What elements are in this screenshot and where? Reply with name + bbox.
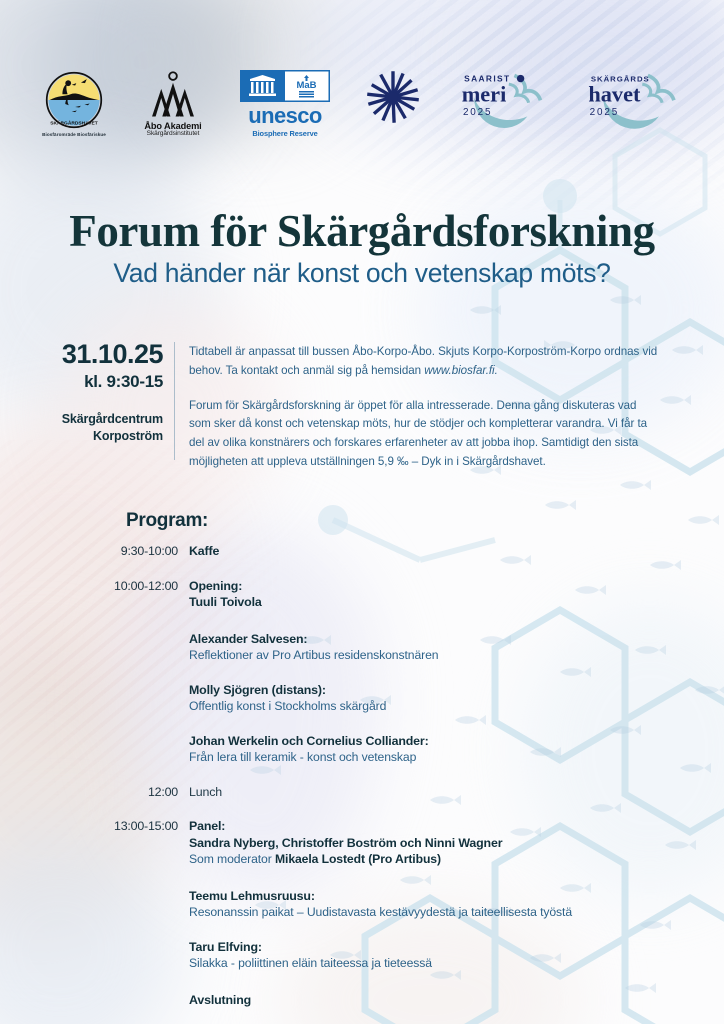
moderator-name: Mikaela Lostedt (Pro Artibus)	[275, 852, 441, 866]
starburst-logo	[365, 69, 421, 125]
program-time	[0, 888, 178, 921]
program-entry: Lunch	[178, 784, 222, 801]
program-time: 9:30-10:00	[0, 543, 178, 560]
program-row: 10:00-12:00Opening:Tuuli Toivola	[0, 578, 724, 611]
svg-text:meri: meri	[462, 81, 507, 106]
program-entry-desc: Resonanssin paikat – Uudistavasta kestäv…	[189, 904, 572, 921]
program-list: 9:30-10:00Kaffe10:00-12:00Opening:Tuuli …	[0, 543, 724, 1009]
program-entry-name: Johan Werkelin och Cornelius Colliander:	[189, 733, 429, 750]
program-entry-name-2: Sandra Nyberg, Christoffer Boström och N…	[189, 835, 502, 852]
program-time: 10:00-12:00	[0, 578, 178, 611]
program-entry-desc: Från lera till keramik - konst och veten…	[189, 749, 429, 766]
program-time	[0, 631, 178, 664]
program-time	[0, 992, 178, 1009]
program-entry: Johan Werkelin och Cornelius Colliander:…	[178, 733, 429, 766]
program-entry-name: Kaffe	[189, 543, 219, 560]
event-date-block: 31.10.25 kl. 9:30-15 Skärgårdcentrum Kor…	[0, 340, 163, 445]
svg-text:havet: havet	[588, 81, 641, 106]
page-subtitle: Vad händer när konst och vetenskap möts?	[0, 258, 724, 289]
program-time	[0, 682, 178, 715]
program-entry-moderator: Som moderator Mikaela Lostedt (Pro Artib…	[189, 851, 502, 868]
event-time: kl. 9:30-15	[0, 372, 163, 392]
logo-row: SKÄRGÅRDSHAVET Biosfäromräde Biosfärisku…	[0, 58, 724, 150]
program-entry-name-2: Tuuli Toivola	[189, 594, 262, 611]
program-entry-name: Avslutning	[189, 992, 251, 1009]
event-venue: Skärgårdcentrum Korpoström	[0, 411, 163, 445]
program-row: 9:30-10:00Kaffe	[0, 543, 724, 560]
program-row: Teemu Lehmusruusu:Resonanssin paikat – U…	[0, 888, 724, 921]
vertical-divider	[174, 342, 175, 460]
program-time	[0, 939, 178, 972]
intro-paragraph-1: Tidtabell är anpassat till bussen Åbo-Ko…	[189, 343, 659, 381]
program-entry-name: Teemu Lehmusruusu:	[189, 888, 572, 905]
program-entry: Avslutning	[178, 992, 251, 1009]
page-title: Forum för Skärgårdsforskning	[0, 205, 724, 257]
program-entry: Taru Elfving:Silakka - poliittinen eläin…	[178, 939, 432, 972]
program-time: 13:00-15:00	[0, 818, 178, 868]
svg-text:2025: 2025	[590, 107, 619, 118]
program-entry-name: Lunch	[189, 784, 222, 801]
program-row: Molly Sjögren (distans):Offentlig konst …	[0, 682, 724, 715]
program-row: 12:00Lunch	[0, 784, 724, 801]
program-entry-name: Panel:	[189, 818, 502, 835]
program-row: Alexander Salvesen:Reflektioner av Pro A…	[0, 631, 724, 664]
program-entry: Teemu Lehmusruusu:Resonanssin paikat – U…	[178, 888, 572, 921]
program-entry-desc: Reflektioner av Pro Artibus residenskons…	[189, 647, 438, 664]
program-entry-name: Alexander Salvesen:	[189, 631, 438, 648]
biosfaromradet-caption: Biosfäromräde Biosfäriskue	[42, 132, 106, 137]
poster-root: SKÄRGÅRDSHAVET Biosfäromräde Biosfärisku…	[0, 0, 724, 1024]
program-time	[0, 733, 178, 766]
venue-line-2: Korpoström	[93, 429, 163, 443]
program-time: 12:00	[0, 784, 178, 801]
venue-line-1: Skärgårdcentrum	[62, 412, 163, 426]
program-row: Johan Werkelin och Cornelius Colliander:…	[0, 733, 724, 766]
program-row: Taru Elfving:Silakka - poliittinen eläin…	[0, 939, 724, 972]
event-date: 31.10.25	[0, 340, 163, 368]
program-entry-name: Molly Sjögren (distans):	[189, 682, 386, 699]
unesco-biosphere-reserve-logo: MaB unesco Biosphere Reserve	[239, 70, 331, 138]
intro-paragraph-2: Forum för Skärgårdsforskning är öppet fö…	[189, 397, 659, 472]
skargardshavet-2025-logo: SKÄRGÅRDS havet 2025	[583, 68, 683, 130]
program-entry-desc: Silakka - poliittinen eläin taiteessa ja…	[189, 955, 432, 972]
unesco-wordmark: unesco	[248, 105, 321, 127]
program-entry-name: Opening:	[189, 578, 262, 595]
biosfar-website-link[interactable]: www.biosfar.fi.	[424, 364, 498, 377]
program-entry: Alexander Salvesen:Reflektioner av Pro A…	[178, 631, 438, 664]
svg-text:MaB: MaB	[296, 80, 316, 91]
program-entry: Panel:Sandra Nyberg, Christoffer Boström…	[178, 818, 502, 868]
program-entry: Molly Sjögren (distans):Offentlig konst …	[178, 682, 386, 715]
saaristomeri-2025-logo: SAARIST meri 2025	[455, 68, 549, 130]
unesco-biosphere-sub: Biosphere Reserve	[252, 129, 317, 138]
program-entry-desc: Offentlig konst i Stockholms skärgård	[189, 698, 386, 715]
program-entry-name: Taru Elfving:	[189, 939, 432, 956]
abo-akademi-logo: Åbo Akademi Skärgårdsinstitutet	[141, 71, 205, 137]
program-row: Avslutning	[0, 992, 724, 1009]
intro-text-block: Tidtabell är anpassat till bussen Åbo-Ko…	[189, 343, 659, 472]
program-row: 13:00-15:00Panel:Sandra Nyberg, Christof…	[0, 818, 724, 868]
abo-akademi-institute: Skärgårdsinstitutet	[147, 130, 200, 137]
program-heading: Program:	[126, 510, 208, 532]
svg-text:2025: 2025	[463, 107, 492, 118]
moderator-label: Som moderator	[189, 852, 275, 866]
biosfaromradet-skargardshavet-logo: SKÄRGÅRDSHAVET Biosfäromräde Biosfärisku…	[41, 71, 107, 137]
program-entry: Opening:Tuuli Toivola	[178, 578, 262, 611]
program-entry: Kaffe	[178, 543, 219, 560]
